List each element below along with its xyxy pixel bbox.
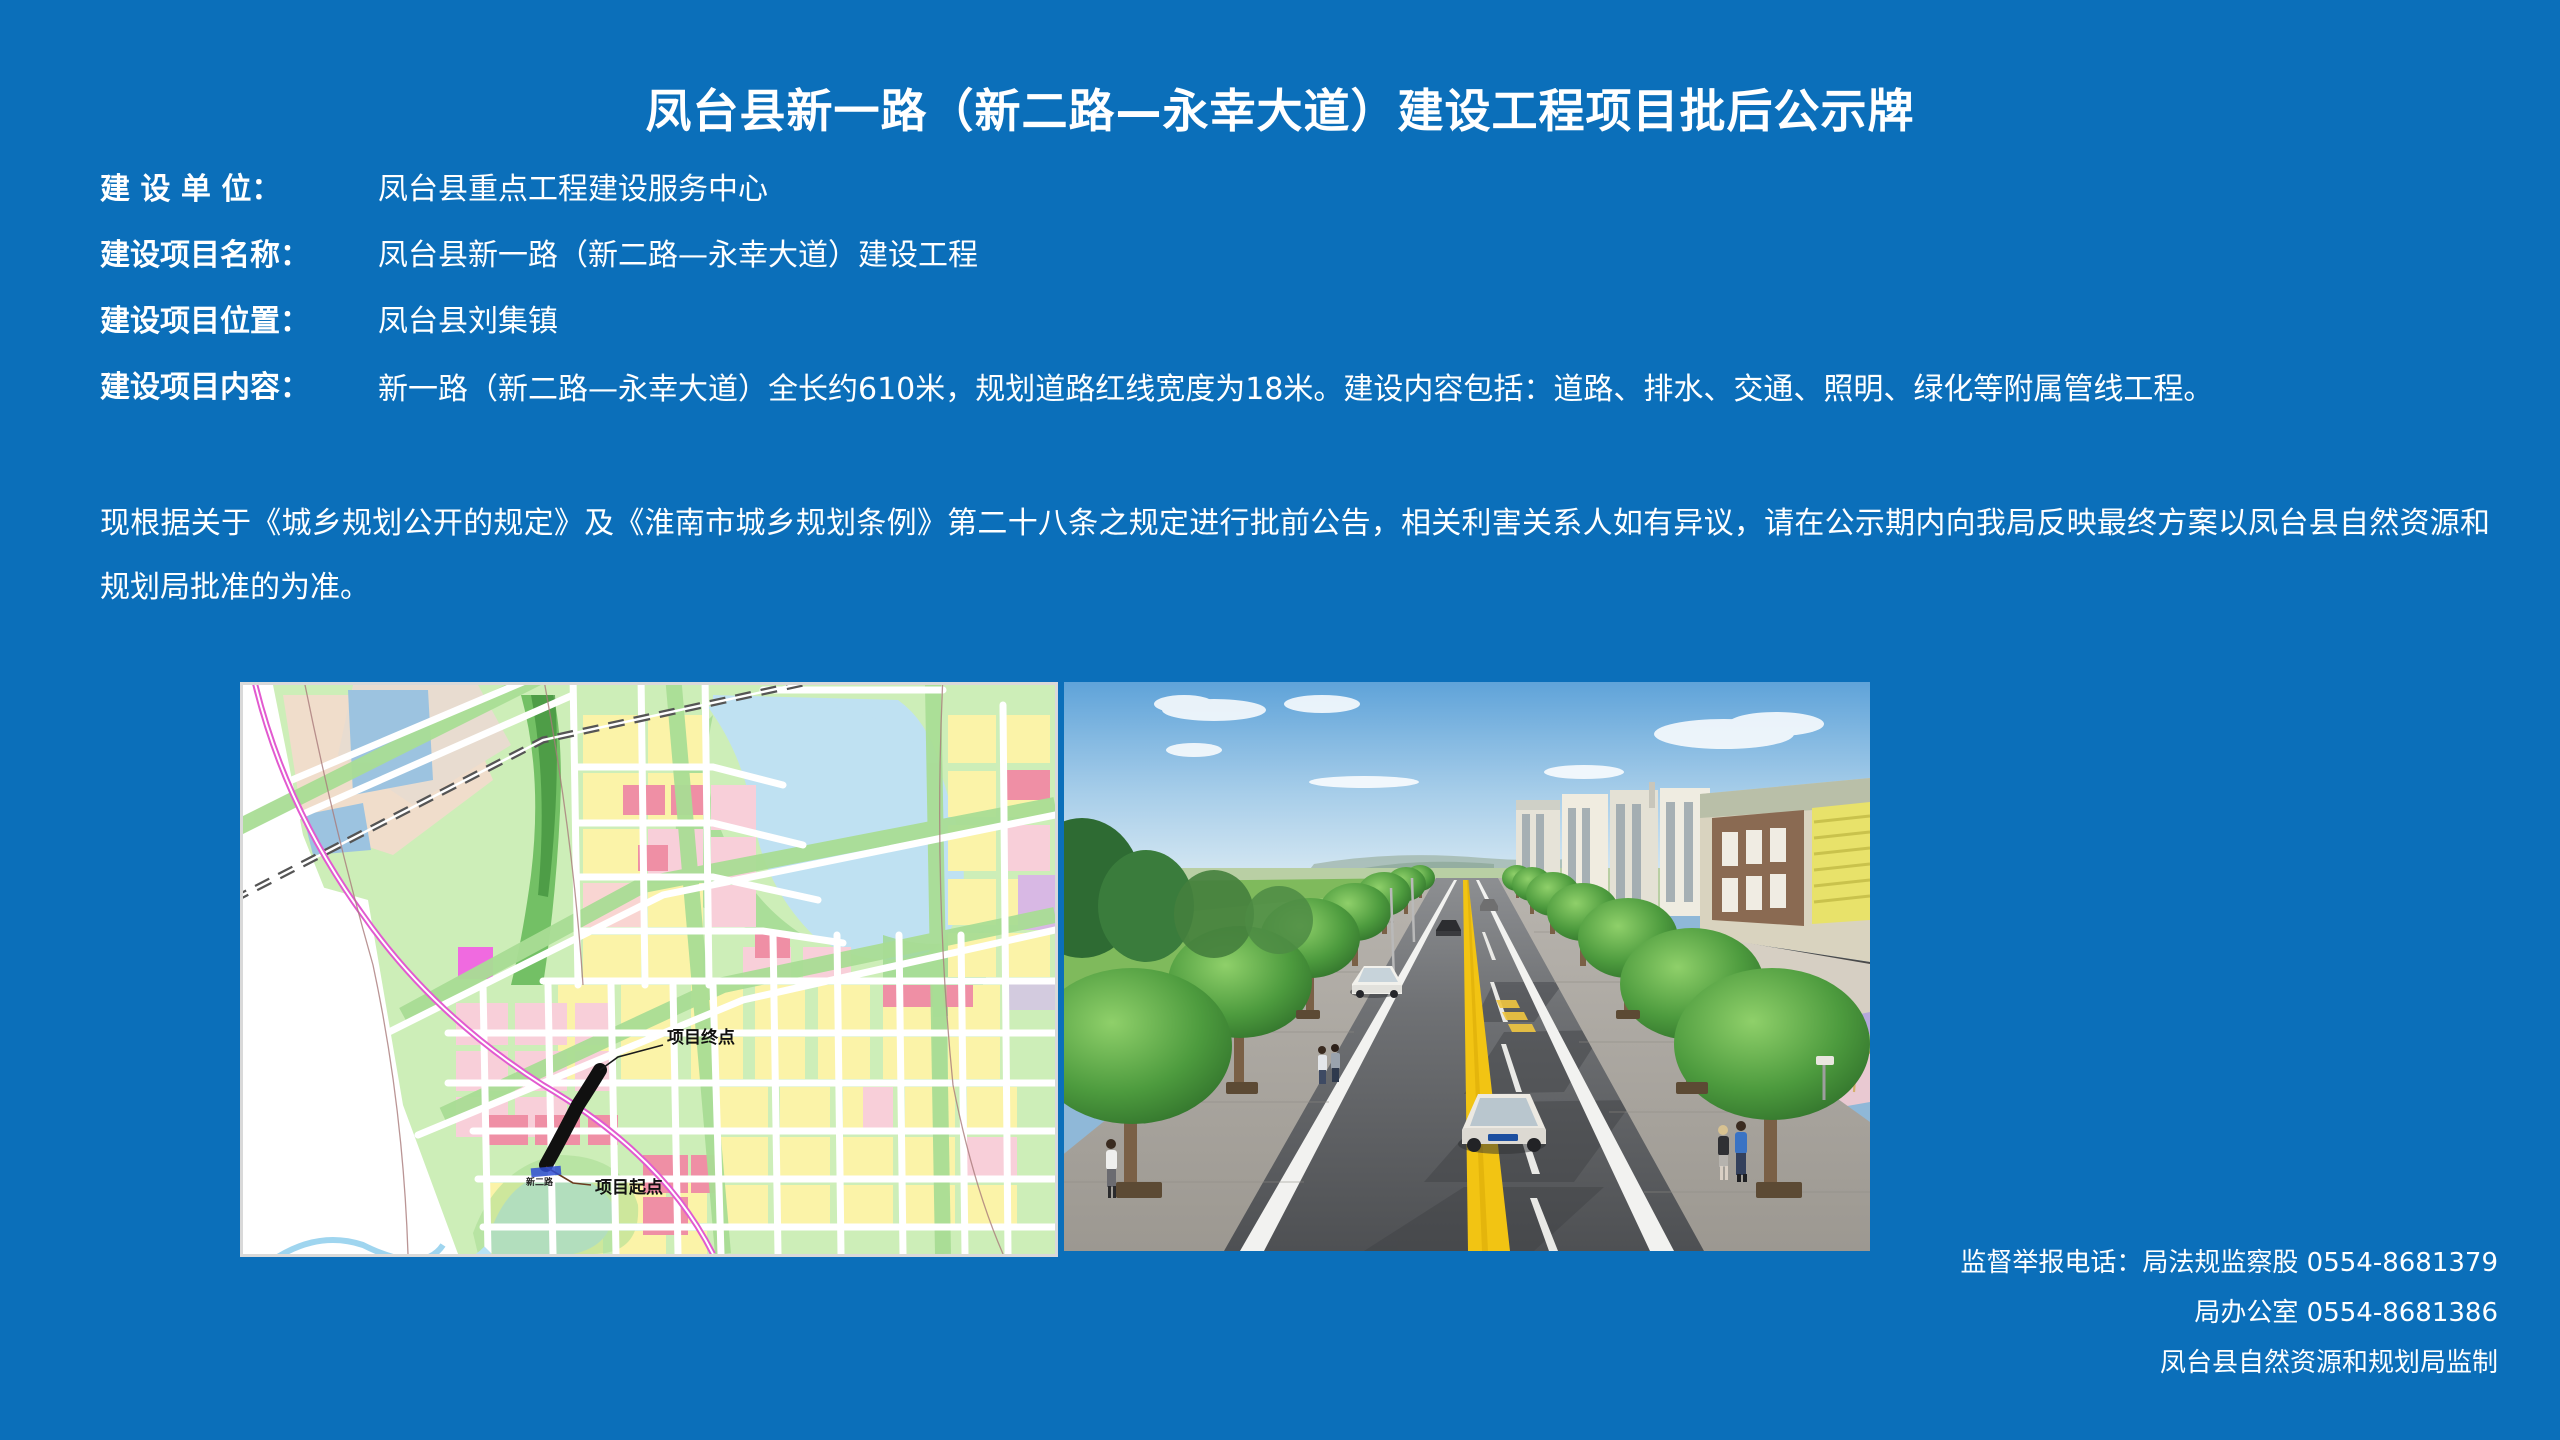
footer-line-issuer: 凤台县自然资源和规划局监制 (1960, 1338, 2498, 1388)
info-value-construction-unit: 凤台县重点工程建设服务中心 (370, 160, 2500, 220)
rendering-graphic (1064, 682, 1870, 1251)
info-value-project-name: 凤台县新一路（新二路—永幸大道）建设工程 (370, 226, 2500, 286)
image-panels: 项目终点 项目起点 新二路 (240, 682, 1875, 1257)
map-canvas: 项目终点 项目起点 新二路 (243, 685, 1055, 1254)
info-label-project-name: 建设项目名称： (100, 226, 370, 286)
footer-line-supervision-phone: 监督举报电话：局法规监察股 0554-8681379 (1960, 1238, 2498, 1288)
map-label-road: 新二路 (526, 1176, 554, 1188)
info-label-construction-unit: 建 设 单 位： (100, 160, 370, 220)
info-row-construction-unit: 建 设 单 位： 凤台县重点工程建设服务中心 (100, 160, 2500, 220)
render-canvas (1064, 682, 1870, 1251)
info-row-project-location: 建设项目位置： 凤台县刘集镇 (100, 292, 2500, 352)
footer-contacts: 监督举报电话：局法规监察股 0554-8681379 局办公室 0554-868… (1960, 1238, 2498, 1388)
map-label-end: 项目终点 (667, 1027, 735, 1048)
planning-map-image: 项目终点 项目起点 新二路 (240, 682, 1058, 1257)
info-row-project-content: 建设项目内容： 新一路（新二路—永幸大道）全长约610米，规划道路红线宽度为18… (100, 358, 2500, 422)
map-graphic: 项目终点 项目起点 新二路 (243, 685, 1055, 1254)
info-value-project-content: 新一路（新二路—永幸大道）全长约610米，规划道路红线宽度为18米。建设内容包括… (370, 358, 2500, 422)
info-row-project-name: 建设项目名称： 凤台县新一路（新二路—永幸大道）建设工程 (100, 226, 2500, 286)
public-notice-paragraph: 现根据关于《城乡规划公开的规定》及《淮南市城乡规划条例》第二十八条之规定进行批前… (100, 492, 2490, 620)
map-label-start: 项目起点 (595, 1177, 663, 1198)
project-info-list: 建 设 单 位： 凤台县重点工程建设服务中心 建设项目名称： 凤台县新一路（新二… (100, 160, 2500, 446)
page-title: 凤台县新一路（新二路—永幸大道）建设工程项目批后公示牌 (0, 80, 2560, 142)
footer-line-office-phone: 局办公室 0554-8681386 (1960, 1288, 2498, 1338)
info-label-project-location: 建设项目位置： (100, 292, 370, 352)
info-value-project-location: 凤台县刘集镇 (370, 292, 2500, 352)
street-rendering-image (1064, 682, 1870, 1251)
info-label-project-content: 建设项目内容： (100, 358, 370, 418)
